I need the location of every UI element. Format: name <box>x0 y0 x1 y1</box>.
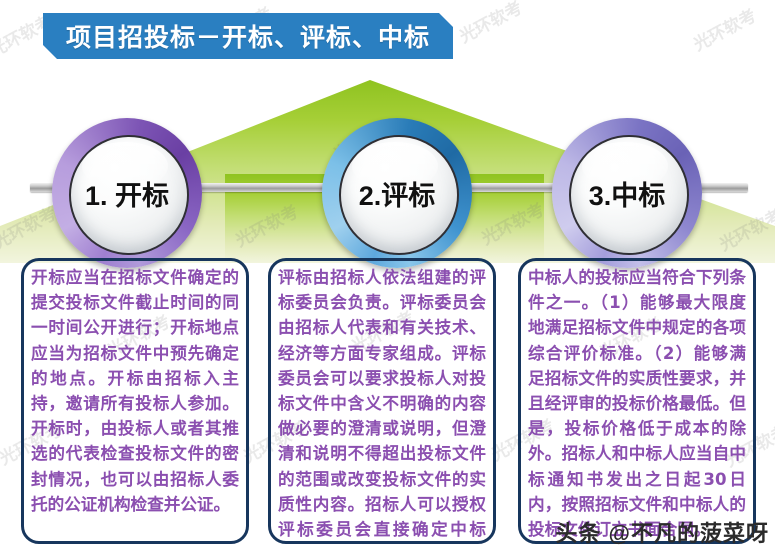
step-node-1[interactable]: 1. 开标 <box>52 118 202 268</box>
step-3-description-text: 中标人的投标应当符合下列条件之一。（1）能够最大限度地满足招标文件中规定的各项综… <box>528 265 746 542</box>
slide-canvas: 光环软考 光环软考 光环软考 光环软考 光环软考 光环软考 光环软考 光环软考 … <box>0 0 775 552</box>
step-node-1-label: 1. 开标 <box>85 174 169 213</box>
step-2-description-box: 评标由招标人依法组建的评标委员会负责。评标委员会由招标人代表和有关技术、经济等方… <box>268 258 496 544</box>
step-1-description-box: 开标应当在招标文件确定的提交投标文件截止时间的同一时间公开进行；开标地点应当为招… <box>21 258 249 544</box>
watermark-tile: 光环软考 <box>688 2 760 56</box>
step-node-3[interactable]: 3.中标 <box>552 118 702 268</box>
watermark-tile: 光环软考 <box>454 0 526 47</box>
page-title: 项目招投标－开标、评标、中标 <box>66 18 430 54</box>
step-2-description-text: 评标由招标人依法组建的评标委员会负责。评标委员会由招标人代表和有关技术、经济等方… <box>278 265 486 544</box>
step-node-2[interactable]: 2.评标 <box>322 118 472 268</box>
byline-watermark: 头条 @不凡的菠菜呀 <box>555 516 769 548</box>
step-1-description-text: 开标应当在招标文件确定的提交投标文件截止时间的同一时间公开进行；开标地点应当为招… <box>31 265 239 517</box>
step-node-3-label: 3.中标 <box>589 174 666 213</box>
step-node-2-label: 2.评标 <box>359 174 436 213</box>
step-3-description-box: 中标人的投标应当符合下列条件之一。（1）能够最大限度地满足招标文件中规定的各项综… <box>518 258 756 544</box>
page-title-banner: 项目招投标－开标、评标、中标 <box>43 13 453 59</box>
